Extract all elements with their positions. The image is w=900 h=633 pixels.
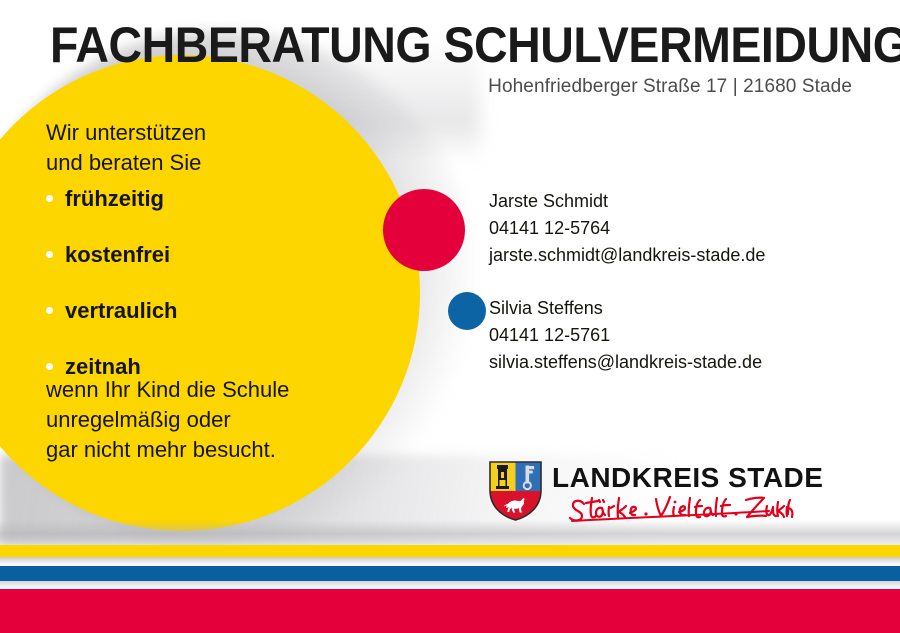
benefit-label: kostenfrei — [65, 242, 170, 267]
footer-grey-shade — [0, 520, 900, 545]
footer-stripe-yellow — [0, 545, 900, 557]
benefit-list: frühzeitig kostenfrei vertraulich zeitna… — [44, 186, 178, 380]
list-item: vertraulich — [44, 298, 178, 324]
footer-gap-2 — [0, 581, 900, 589]
bullet-dot-icon — [46, 195, 53, 202]
footer-gap-1 — [0, 557, 900, 566]
list-item: kostenfrei — [44, 242, 178, 268]
contact-block-1: Jarste Schmidt 04141 12-5764 jarste.schm… — [489, 188, 765, 269]
logo-wordmark: LANDKREIS STADE — [552, 462, 823, 494]
outro-text: wenn Ihr Kind die Schule unregelmäßig od… — [46, 375, 289, 465]
blue-circle-marker — [448, 292, 486, 330]
red-circle-marker — [383, 189, 465, 271]
bullet-dot-icon — [46, 251, 53, 258]
list-item: frühzeitig — [44, 186, 178, 212]
footer-stripe-red — [0, 589, 900, 633]
benefit-label: frühzeitig — [65, 186, 164, 211]
footer-stripe-blue — [0, 566, 900, 581]
bullet-dot-icon — [46, 363, 53, 370]
intro-text: Wir unterstützen und beraten Sie — [46, 118, 206, 178]
page-title: FACHBERATUNG SCHULVERMEIDUNG — [50, 18, 900, 72]
benefit-label: vertraulich — [65, 298, 178, 323]
coat-of-arms-icon — [488, 460, 543, 522]
address-line: Hohenfriedberger Straße 17 | 21680 Stade — [488, 76, 852, 98]
flyer-canvas: FACHBERATUNG SCHULVERMEIDUNG Hohenfriedb… — [0, 0, 900, 633]
contact-block-2: Silvia Steffens 04141 12-5761 silvia.ste… — [489, 295, 762, 376]
bullet-dot-icon — [46, 307, 53, 314]
